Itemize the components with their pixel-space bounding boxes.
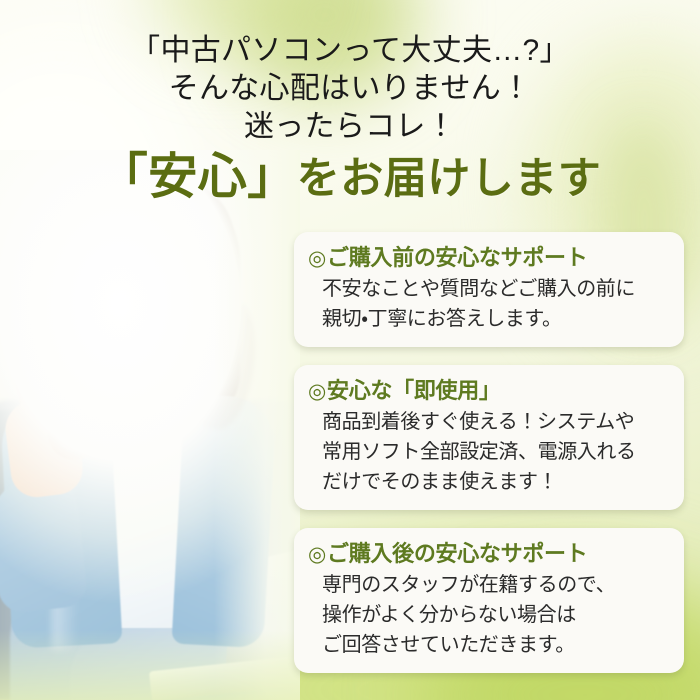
headline-emphasis-rest: をお届けします <box>297 155 602 203</box>
feature-card-list: ◎ご購入前の安心なサポート 不安なことや質問などご購入の前に 親切・丁寧にお答え… <box>294 232 684 691</box>
headline-line-1: 「中古パソコンって大丈夫…?」 <box>0 32 700 70</box>
double-circle-icon: ◎ <box>308 247 326 270</box>
card-title-text: ご購入後の安心なサポート <box>327 541 587 566</box>
feature-card-ready-to-use: ◎安心な「即使用」 商品到着後すぐ使える！システムや 常用ソフト全部設定済、電源… <box>294 365 684 510</box>
headline-emphasis: 「安心」をお届けします <box>0 152 700 204</box>
photo-fade-bottom <box>0 630 300 700</box>
model-photo <box>0 150 300 700</box>
feature-card-pre-purchase-support: ◎ご購入前の安心なサポート 不安なことや質問などご購入の前に 親切・丁寧にお答え… <box>294 232 684 347</box>
double-circle-icon: ◎ <box>308 380 326 403</box>
headline-line-3: 迷ったらコレ！ <box>0 108 700 146</box>
double-circle-icon: ◎ <box>308 543 326 566</box>
card-title: ◎安心な「即使用」 <box>308 377 670 406</box>
promo-banner: 「中古パソコンって大丈夫…?」 そんな心配はいりません！ 迷ったらコレ！ 「安心… <box>0 0 700 700</box>
headline-line-2: そんな心配はいりません！ <box>0 70 700 108</box>
card-body-line: 操作がよく分からない場合は <box>308 601 670 629</box>
card-body-line: 商品到着後すぐ使える！システムや <box>308 408 670 436</box>
card-title-text: 安心な「即使用」 <box>327 378 501 403</box>
feature-card-post-purchase-support: ◎ご購入後の安心なサポート 専門のスタッフが在籍するので、 操作がよく分からない… <box>294 528 684 673</box>
card-body-line: 専門のスタッフが在籍するので、 <box>308 571 670 599</box>
card-body-line: だけでそのまま使えます！ <box>308 468 670 496</box>
card-body-line: 親切・丁寧にお答えします。 <box>308 305 670 333</box>
headline-emphasis-quoted: 「安心」 <box>99 150 297 204</box>
headline-block: 「中古パソコンって大丈夫…?」 そんな心配はいりません！ 迷ったらコレ！ 「安心… <box>0 32 700 204</box>
photo-fade-right <box>214 150 300 700</box>
card-title-text: ご購入前の安心なサポート <box>327 245 587 270</box>
card-title: ◎ご購入後の安心なサポート <box>308 540 670 569</box>
card-body-line: 不安なことや質問などご購入の前に <box>308 275 670 303</box>
card-title: ◎ご購入前の安心なサポート <box>308 244 670 273</box>
card-body-line: ご回答させていただきます。 <box>308 631 670 659</box>
card-body-line: 常用ソフト全部設定済、電源入れる <box>308 438 670 466</box>
